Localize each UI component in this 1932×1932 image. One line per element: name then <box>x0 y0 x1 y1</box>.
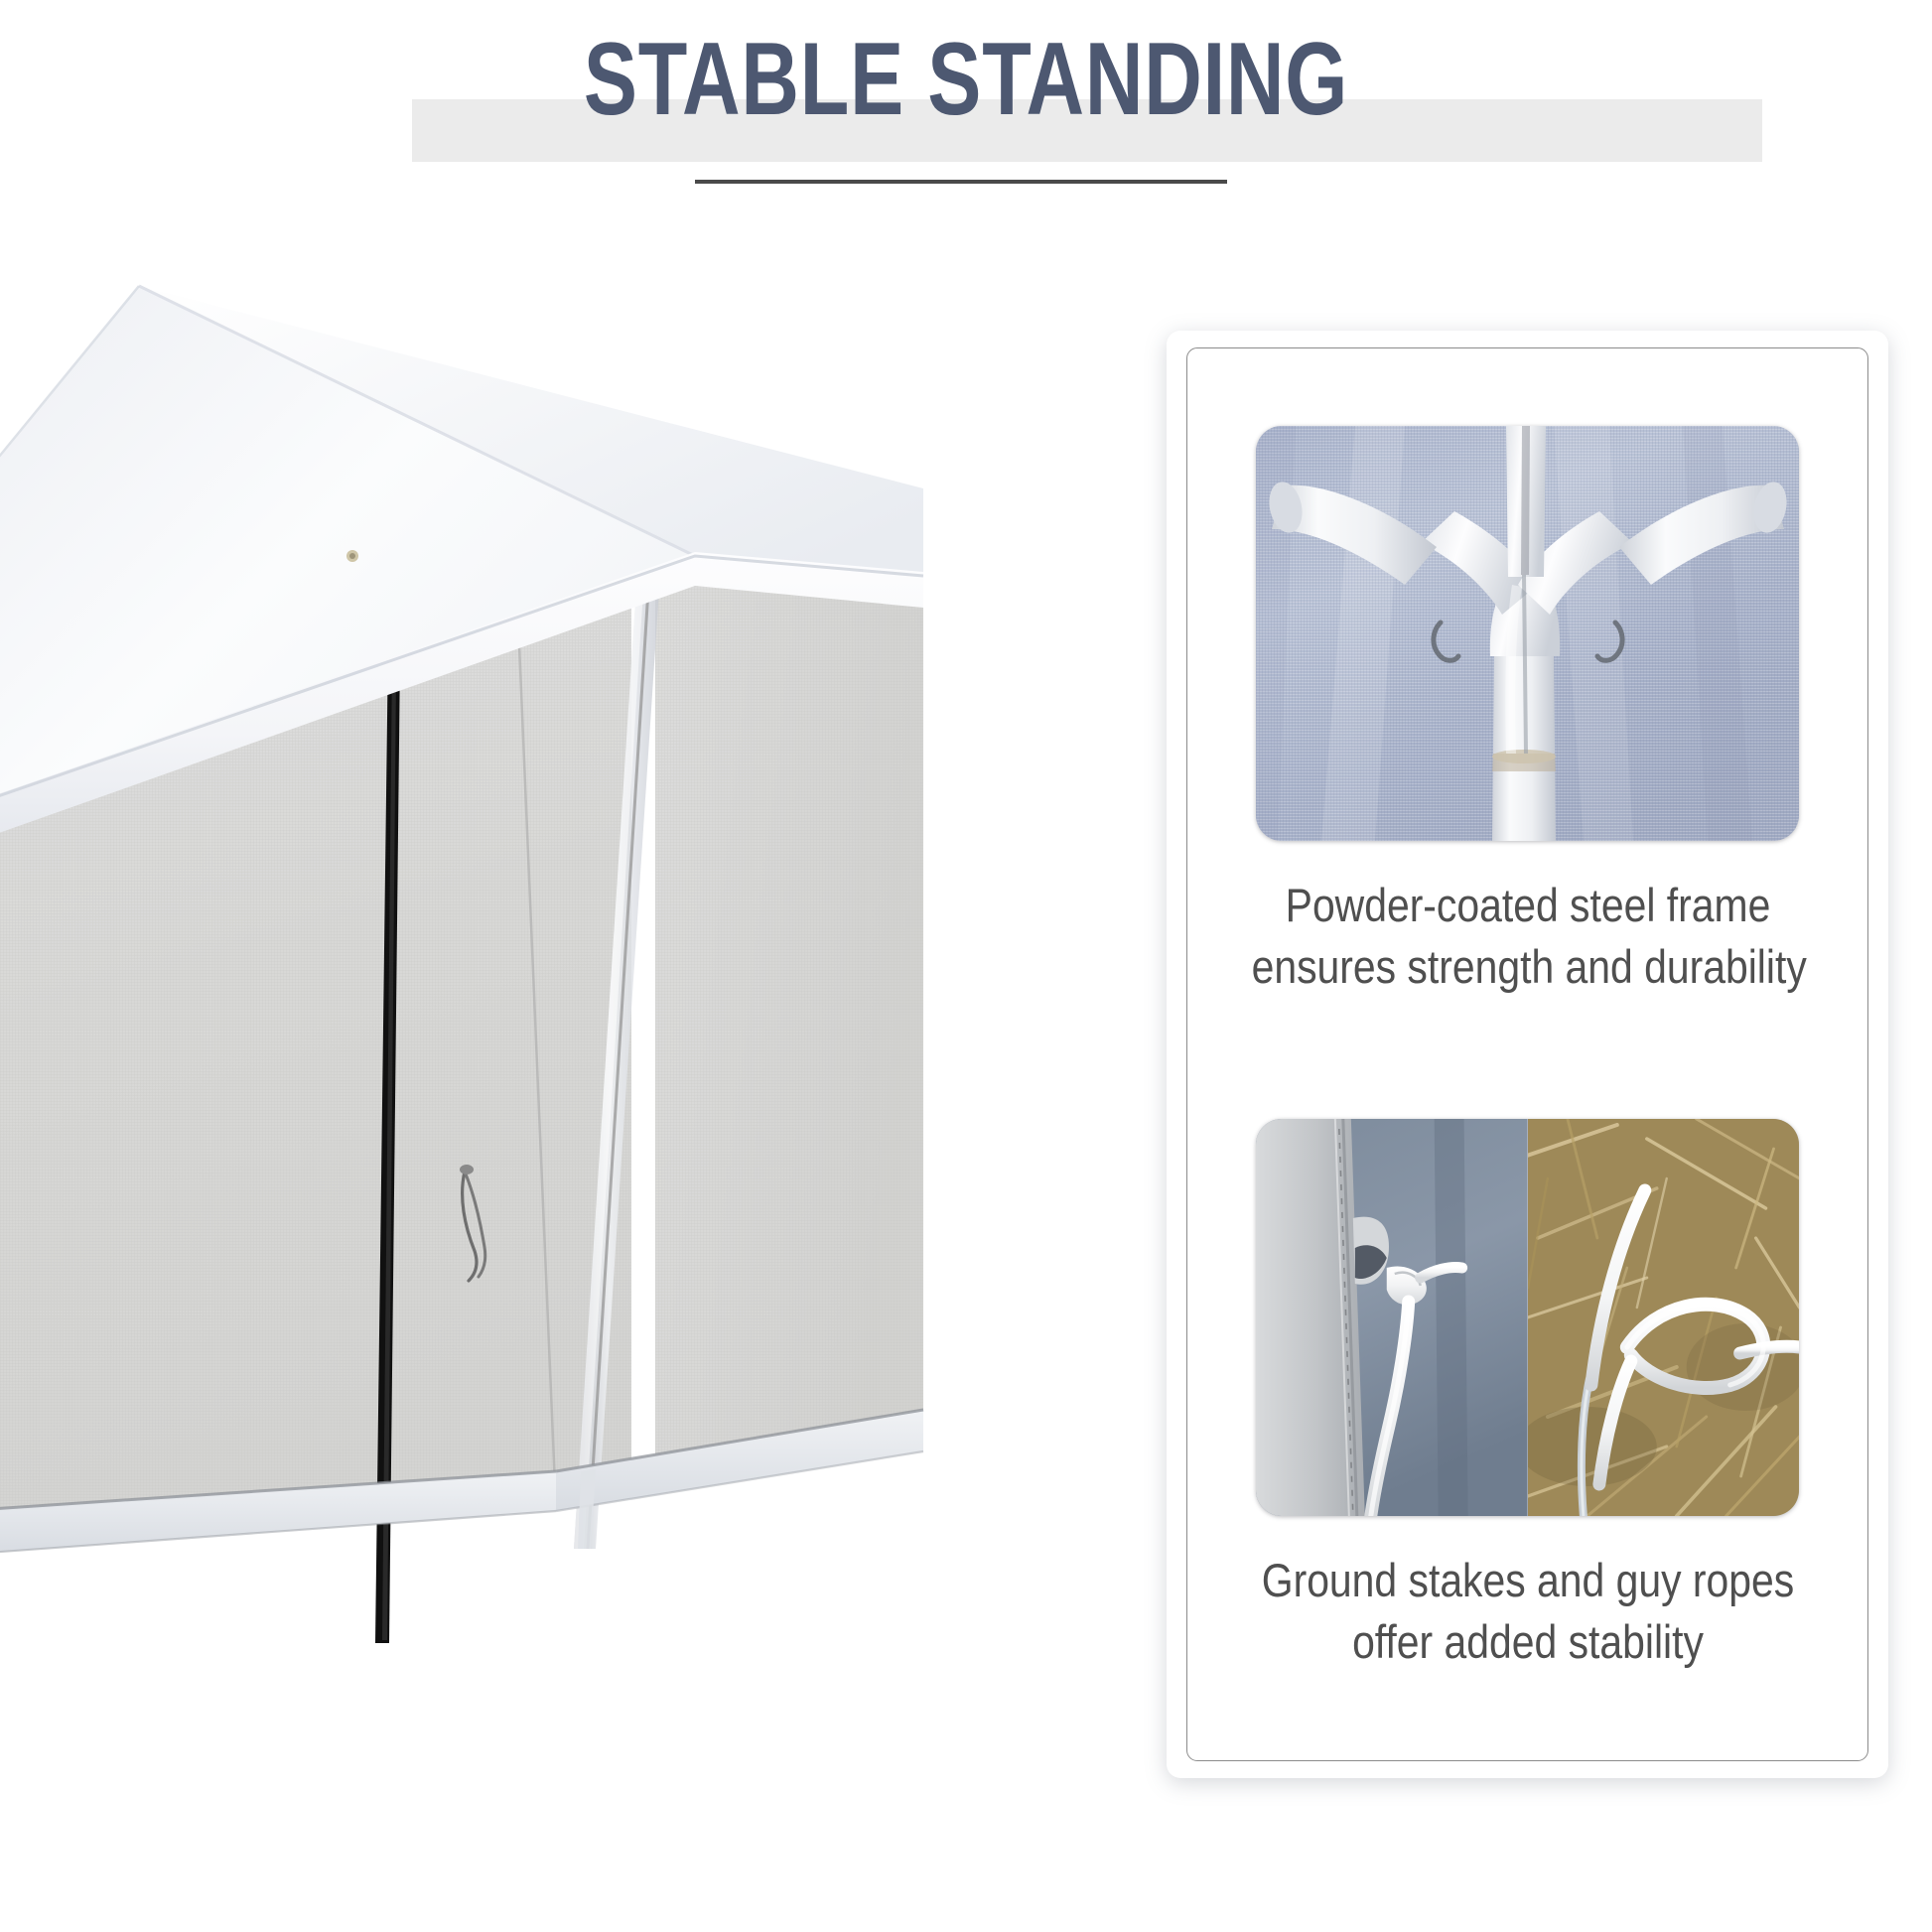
feature-caption-frame: Powder-coated steel frame ensures streng… <box>1251 875 1804 998</box>
steel-frame-connector-photo <box>1256 426 1799 841</box>
guy-rope-illustration <box>1256 1119 1528 1516</box>
page-title: STABLE STANDING <box>212 20 1720 139</box>
gazebo-illustration <box>0 258 948 1747</box>
features-panel-inner-frame: Powder-coated steel frame ensures streng… <box>1186 347 1868 1761</box>
steel-frame-connector-illustration <box>1256 426 1799 841</box>
page-header: STABLE STANDING <box>0 0 1932 208</box>
features-panel: Powder-coated steel frame ensures streng… <box>1167 331 1888 1778</box>
feature-caption-stability: Ground stakes and guy ropes offer added … <box>1251 1550 1804 1673</box>
caption-line-2: offer added stability <box>1251 1611 1804 1673</box>
product-photo-gazebo <box>0 258 948 1747</box>
feature-card-frame: Powder-coated steel frame ensures streng… <box>1187 348 1867 1067</box>
feature-card-stability: Ground stakes and guy ropes offer added … <box>1187 1067 1867 1760</box>
junction-seam <box>1524 575 1526 754</box>
title-divider-rule <box>695 180 1227 184</box>
guy-rope-photo-half <box>1256 1119 1528 1516</box>
ground-stake-illustration <box>1528 1119 1800 1516</box>
stakes-and-ropes-photo <box>1256 1119 1799 1516</box>
rope-tail-right <box>1739 1346 1799 1353</box>
ground-stake-photo-half <box>1528 1119 1800 1516</box>
caption-line-1: Powder-coated steel frame <box>1251 875 1804 936</box>
zipper-pull-tab <box>460 1165 474 1174</box>
caption-line-2: ensures strength and durability <box>1251 936 1804 998</box>
caption-line-1: Ground stakes and guy ropes <box>1251 1550 1804 1611</box>
